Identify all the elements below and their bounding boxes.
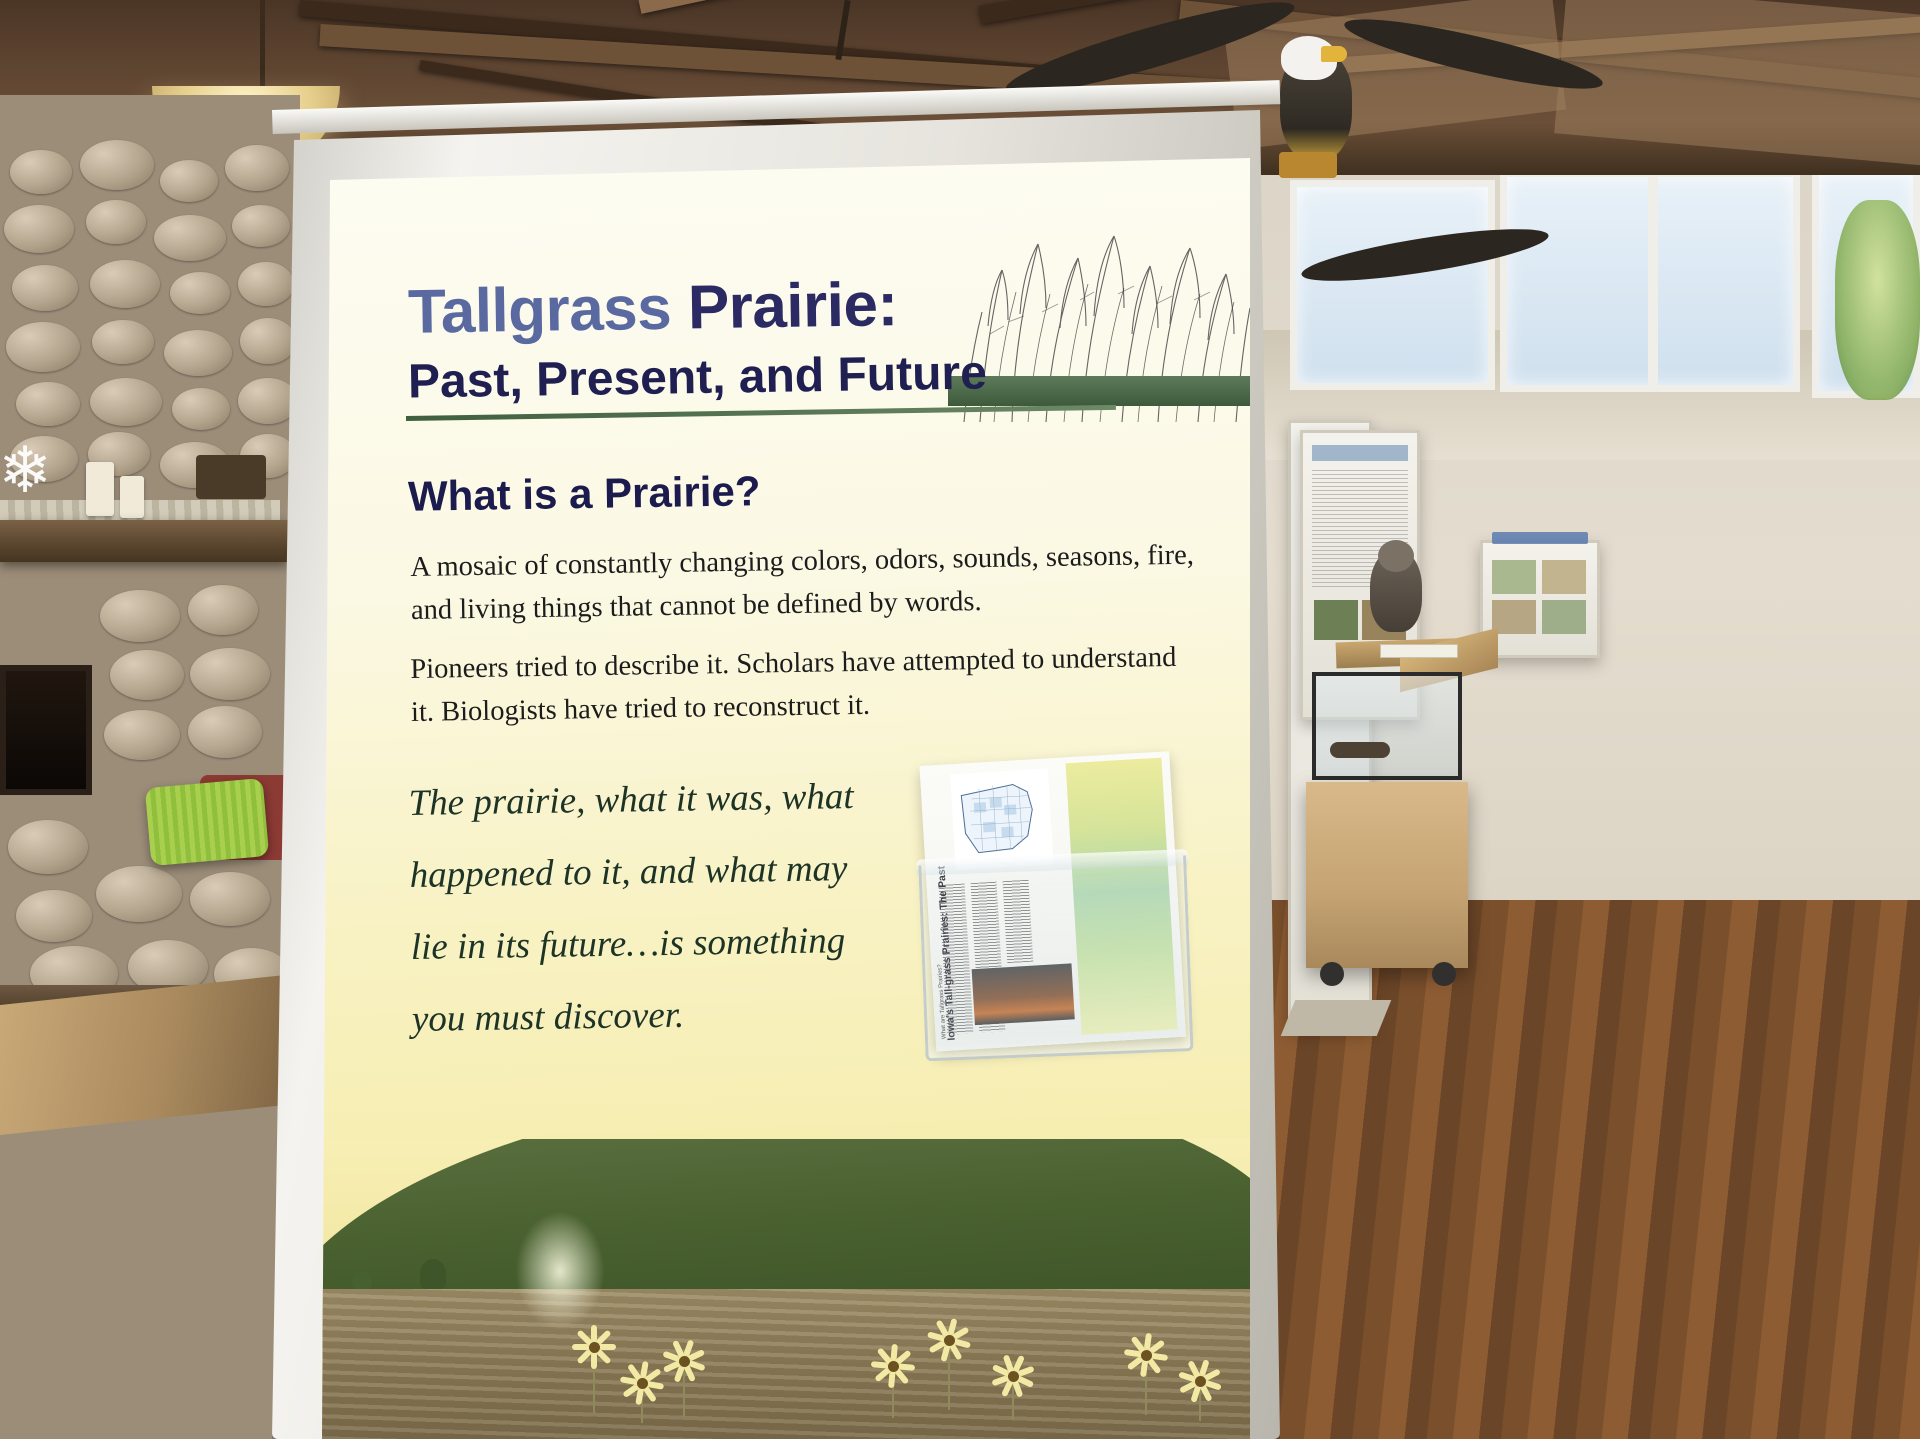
cabinet-caster xyxy=(1320,962,1344,986)
coneflower xyxy=(990,1353,1036,1399)
stone xyxy=(90,260,160,308)
coneflower xyxy=(568,1321,620,1373)
flower-center xyxy=(888,1361,899,1372)
coneflower xyxy=(1120,1329,1172,1381)
lamp-stem xyxy=(260,0,265,92)
coneflower xyxy=(868,1341,918,1391)
stone xyxy=(164,330,232,376)
photo-field-rows xyxy=(300,1289,1250,1439)
pull-quote: The prairie, what it was, what happened … xyxy=(408,761,882,1057)
body-paragraph-2: Pioneers tried to describe it. Scholars … xyxy=(410,636,1201,735)
acrylic-pocket xyxy=(918,855,1193,1061)
candle xyxy=(120,476,144,518)
mantel-decor-letters xyxy=(196,455,266,499)
poster-title-bar xyxy=(1492,532,1588,544)
stone xyxy=(110,650,184,700)
cabinet-caster xyxy=(1432,962,1456,986)
stone xyxy=(188,585,258,635)
stone xyxy=(100,590,180,642)
specimen-case xyxy=(1312,672,1462,780)
body-paragraph-1: A mosaic of constantly changing colors, … xyxy=(410,534,1201,633)
panel-header-bar xyxy=(1312,445,1408,461)
stone xyxy=(154,215,226,261)
interpretive-sign[interactable]: Tallgrass Prairie: Past, Present, and Fu… xyxy=(272,110,1280,1439)
foliage-outside-window xyxy=(1835,200,1920,400)
coneflower xyxy=(660,1337,708,1385)
stone xyxy=(92,320,154,364)
stone xyxy=(8,820,88,874)
stone xyxy=(188,706,262,758)
fireplace-opening xyxy=(0,665,92,795)
photo-field xyxy=(300,1289,1250,1439)
lens-flare xyxy=(515,1211,605,1331)
flower-center xyxy=(1195,1376,1206,1387)
wall-poster xyxy=(1480,540,1600,658)
stone xyxy=(170,272,230,314)
hawk-head xyxy=(1378,540,1414,572)
stone xyxy=(4,205,74,253)
poster-image xyxy=(1542,560,1586,594)
eagle-perch xyxy=(1279,152,1337,178)
specimen-inside-case xyxy=(1330,742,1390,758)
stone xyxy=(160,160,218,202)
flower-center xyxy=(637,1378,648,1389)
stone xyxy=(80,140,154,190)
bald-eagle-mount xyxy=(1245,10,1575,190)
hawk-mount xyxy=(1352,540,1442,650)
sign-face: Tallgrass Prairie: Past, Present, and Fu… xyxy=(300,158,1250,1439)
flower-center xyxy=(679,1356,690,1367)
poster-image xyxy=(1542,600,1586,634)
stone xyxy=(12,265,78,311)
page-title: Tallgrass Prairie: xyxy=(408,274,898,344)
candle xyxy=(86,462,114,516)
flower-center xyxy=(944,1335,955,1346)
stone xyxy=(172,388,230,430)
stone xyxy=(190,872,270,926)
window-left xyxy=(1290,180,1495,390)
fireplace-mantel xyxy=(0,520,288,562)
flower-center xyxy=(589,1342,600,1353)
eagle-wing-right xyxy=(1340,7,1606,102)
stone xyxy=(6,322,80,372)
case-label xyxy=(1380,644,1458,658)
title-word-prairie: Prairie: xyxy=(671,270,898,343)
stone xyxy=(90,378,162,426)
stone xyxy=(16,890,92,942)
stone xyxy=(96,866,182,922)
photo-tree xyxy=(420,1259,446,1289)
poster-image xyxy=(1492,560,1536,594)
stone xyxy=(16,382,80,426)
brochure-holder[interactable]: Iowa's Tall-grass Prairies: The Past Wha… xyxy=(922,753,1201,1063)
title-word-tallgrass: Tallgrass xyxy=(407,274,671,347)
rolling-exhibit-cabinet xyxy=(1306,782,1468,968)
stone xyxy=(10,150,72,194)
poster-image xyxy=(1492,600,1536,634)
stone xyxy=(190,648,270,700)
window-mullion-vertical xyxy=(1648,170,1658,392)
stone xyxy=(104,710,180,760)
section-heading: What is a Prairie? xyxy=(408,467,761,521)
header-green-band xyxy=(948,376,1250,406)
prairie-landscape-photo xyxy=(300,1139,1250,1439)
flower-center xyxy=(1141,1350,1152,1361)
panel-base-foot xyxy=(1281,1000,1392,1036)
green-pillow xyxy=(145,778,269,866)
coneflower xyxy=(1176,1357,1224,1405)
snowflake-decoration: ❄ xyxy=(0,437,58,503)
eagle-beak xyxy=(1321,46,1347,62)
page-subtitle: Past, Present, and Future xyxy=(408,349,987,406)
coneflower xyxy=(922,1313,976,1367)
stone xyxy=(86,200,146,244)
flower-center xyxy=(1008,1371,1019,1382)
